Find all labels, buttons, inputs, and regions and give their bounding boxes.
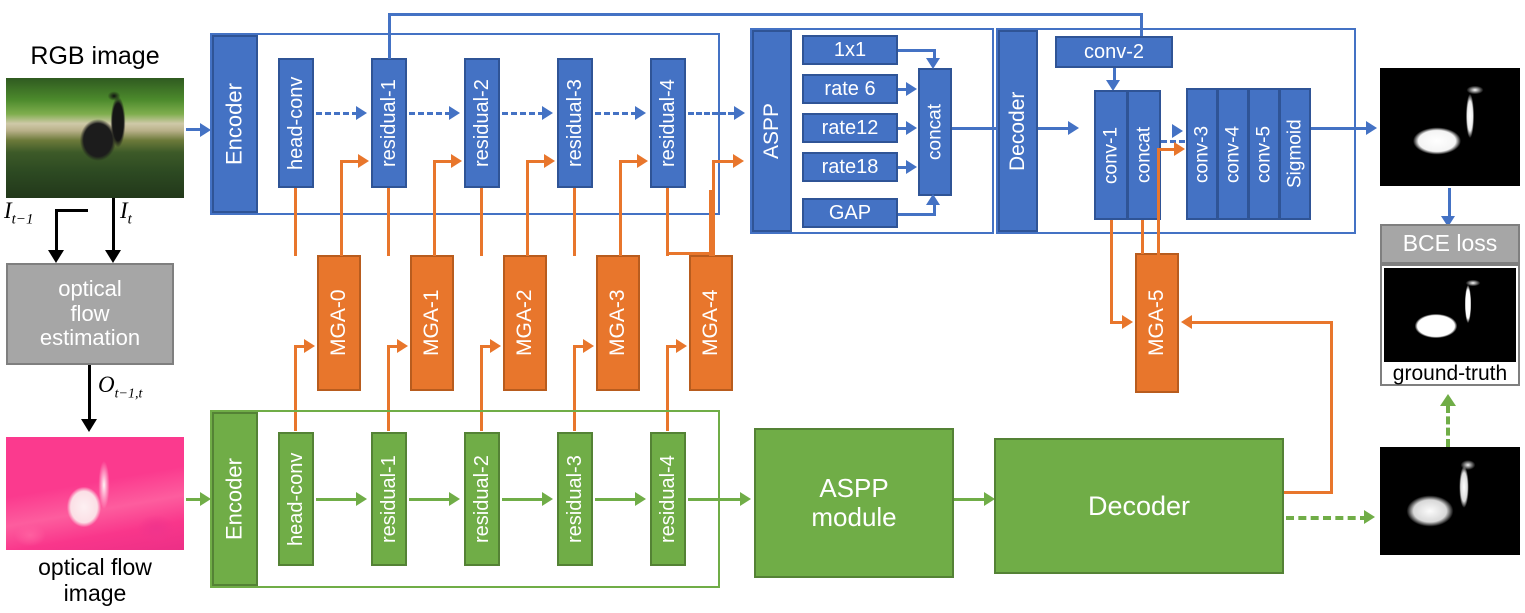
connector-motion-prediction-to-gt — [1446, 405, 1450, 447]
mga-module-0: MGA-0 — [317, 255, 361, 391]
decoder-conv1-block: conv-1 — [1094, 90, 1128, 220]
motion-aspp-module: ASPP module — [754, 428, 954, 578]
aspp-concat-block: concat — [918, 68, 952, 196]
arrowhead-rgb-to-encoder — [200, 123, 211, 137]
wire-motion-decoder-up — [1330, 321, 1333, 491]
wire-res4-to-mga4 — [666, 188, 669, 256]
optical-flow-image — [6, 437, 184, 550]
arrowhead-flow-to-encoder — [200, 492, 211, 506]
connector-appearance-res3-to-res4 — [595, 112, 637, 115]
aspp-branch-rate6: rate 6 — [802, 74, 898, 104]
motion-decoder-module: Decoder — [994, 438, 1284, 574]
connector-motion-res4-to-aspp — [688, 498, 744, 501]
motion-aspp-line-1: ASPP — [819, 474, 888, 503]
arrowhead-appearance-res2 — [449, 106, 460, 120]
motion-block-residual-3: residual-3 — [557, 432, 593, 566]
wire-mga1-out-up — [433, 160, 436, 256]
connector-flow-to-image — [88, 365, 91, 421]
arrowhead-motion-res2 — [449, 492, 460, 506]
wire-concat-feat-down — [1110, 220, 1113, 323]
wire-mga2-out-up — [526, 160, 529, 256]
aspp-branch-1x1: 1x1 — [802, 35, 898, 65]
saliency-prediction-image — [1380, 68, 1520, 186]
motion-block-residual-4: residual-4 — [650, 432, 686, 566]
appearance-decoder-bar: Decoder — [998, 30, 1038, 232]
arrowhead-motion-res3 — [542, 492, 553, 506]
arrowhead-rgb-to-flow — [105, 250, 121, 263]
connector-motion-res3-to-res4 — [595, 498, 637, 501]
decoder-sigmoid-block: Sigmoid — [1279, 88, 1311, 220]
skip-res1-up — [388, 13, 391, 59]
decoder-conv5-block: conv-5 — [1248, 88, 1280, 220]
arrowhead-mga4-to-aspp — [733, 154, 744, 168]
arrowhead-appearance-aspp — [734, 106, 745, 120]
connector-appearance-head-to-res1 — [316, 112, 358, 115]
optical-flow-estimation-box: optical flow estimation — [6, 263, 174, 365]
wire-mga4-out-up — [712, 160, 715, 256]
appearance-block-head-conv: head-conv — [278, 58, 314, 188]
arrowhead-flow-to-image — [81, 419, 97, 432]
appearance-block-residual-3: residual-3 — [557, 58, 593, 188]
arrowhead-motion-to-mga2 — [490, 339, 501, 353]
arrowhead-rate18-concat — [906, 160, 917, 174]
rgb-image-label: RGB image — [6, 42, 184, 71]
mga-module-3: MGA-3 — [596, 255, 640, 391]
bce-loss-box: BCE loss — [1380, 224, 1520, 264]
mga-module-2: MGA-2 — [503, 255, 547, 391]
connector-1x1-to-concat-h — [898, 49, 936, 52]
skip-res1-top-horizontal — [388, 13, 1143, 16]
connector-prediction-to-loss — [1448, 188, 1451, 218]
arrowhead-rate12-concat — [906, 121, 917, 135]
connector-appearance-res2-to-res3 — [502, 112, 544, 115]
connector-motion-res1-to-res2 — [409, 498, 451, 501]
wire-mga5-out-up — [1157, 148, 1160, 255]
arrowhead-mga5-to-conv3 — [1174, 142, 1185, 156]
arrowhead-concat-to-mga5 — [1122, 315, 1133, 329]
connector-motion-head-to-res1 — [316, 498, 358, 501]
arrowhead-prev-frame — [48, 250, 64, 263]
arrowhead-motion-aspp — [740, 492, 751, 506]
arrowhead-1x1-concat — [926, 58, 940, 69]
wire-res3-to-mga3 — [573, 188, 576, 256]
mga-module-4: MGA-4 — [689, 255, 733, 391]
arrowhead-motion-decoder-to-mga5 — [1181, 315, 1192, 329]
aspp-branch-gap: GAP — [802, 198, 898, 228]
arrowhead-appearance-res1 — [356, 106, 367, 120]
arrowhead-motion-res1 — [356, 492, 367, 506]
arrowhead-motion-to-mga4 — [676, 339, 687, 353]
appearance-block-residual-2: residual-2 — [464, 58, 500, 188]
connector-prev-frame-h — [55, 209, 88, 212]
motion-block-head-conv: head-conv — [278, 432, 314, 566]
connector-motion-res2-to-res3 — [502, 498, 544, 501]
arrowhead-mga0-to-res1 — [358, 154, 369, 168]
decoder-conv3-block: conv-3 — [1186, 88, 1218, 220]
appearance-aspp-bar: ASPP — [752, 30, 792, 232]
symbol-prev-frame: It−1 — [4, 198, 33, 229]
optical-flow-image-label: optical flow image — [0, 554, 190, 607]
motion-block-residual-1: residual-1 — [371, 432, 407, 566]
motion-encoder-bar: Encoder — [212, 412, 258, 586]
appearance-encoder-bar: Encoder — [212, 35, 258, 213]
optical-flow-line-2: flow — [70, 302, 109, 327]
arrowhead-mga3-to-res4 — [637, 154, 648, 168]
connector-gap-to-concat-h — [898, 213, 936, 216]
wire-res2-to-mga2 — [480, 188, 483, 256]
connector-decoder-to-prediction — [1311, 127, 1371, 130]
mga-module-5: MGA-5 — [1135, 253, 1179, 393]
arrowhead-motion-prediction-to-gt — [1440, 394, 1456, 406]
aspp-branch-rate18: rate18 — [802, 152, 898, 182]
arrowhead-appearance-res4 — [635, 106, 646, 120]
arrowhead-concat-to-conv3 — [1172, 124, 1183, 138]
motion-block-residual-2: residual-2 — [464, 432, 500, 566]
wire-mga0-out-up — [340, 160, 343, 256]
arrowhead-appearance-res3 — [542, 106, 553, 120]
appearance-block-residual-4: residual-4 — [650, 58, 686, 188]
wire-motion-decoder-out — [1283, 491, 1333, 494]
arrowhead-mga2-to-res3 — [544, 154, 555, 168]
motion-aspp-line-2: module — [811, 503, 896, 532]
wire-decoder-concat-down-to-mga5 — [1141, 220, 1144, 254]
connector-motion-decoder-to-prediction — [1286, 516, 1368, 520]
decoder-conv2-block: conv-2 — [1055, 36, 1173, 68]
motion-prediction-image — [1380, 447, 1520, 555]
arrowhead-motion-to-mga0 — [304, 339, 315, 353]
connector-appearance-res4-to-aspp — [688, 112, 734, 115]
decoder-concat-block: concat — [1127, 90, 1161, 220]
arrowhead-motion-decoder-to-prediction — [1364, 510, 1375, 524]
arrowhead-motion-to-mga1 — [397, 339, 408, 353]
wire-mga3-out-up — [619, 160, 622, 256]
symbol-current-frame: It — [120, 198, 132, 229]
symbol-optical-flow: Ot−1,t — [98, 372, 142, 403]
wire-motion-decoder-to-mga5 — [1192, 321, 1333, 324]
aspp-branch-rate12: rate12 — [802, 113, 898, 143]
wire-head-conv-to-mga0 — [294, 188, 297, 256]
optical-flow-line-1: optical — [58, 277, 122, 302]
connector-rgb-to-flow — [112, 198, 115, 252]
ground-truth-image — [1384, 268, 1516, 362]
arrowhead-gap-concat — [926, 194, 940, 205]
appearance-block-residual-1: residual-1 — [371, 58, 407, 188]
connector-appearance-res1-to-res2 — [409, 112, 451, 115]
connector-prev-frame-v — [55, 209, 58, 252]
optical-flow-line-3: estimation — [40, 326, 140, 351]
rgb-input-image — [6, 78, 184, 198]
arrowhead-rate6-concat — [906, 82, 917, 96]
mga-module-1: MGA-1 — [410, 255, 454, 391]
wire-res1-to-mga1 — [387, 188, 390, 256]
arrowhead-mga1-to-res2 — [451, 154, 462, 168]
decoder-conv4-block: conv-4 — [1217, 88, 1249, 220]
arrowhead-motion-res4 — [635, 492, 646, 506]
arrowhead-motion-to-mga3 — [583, 339, 594, 353]
ground-truth-label: ground-truth — [1380, 362, 1520, 386]
arrowhead-decoder-to-prediction — [1366, 121, 1377, 135]
wire-res4-to-mga4-h — [666, 252, 712, 255]
